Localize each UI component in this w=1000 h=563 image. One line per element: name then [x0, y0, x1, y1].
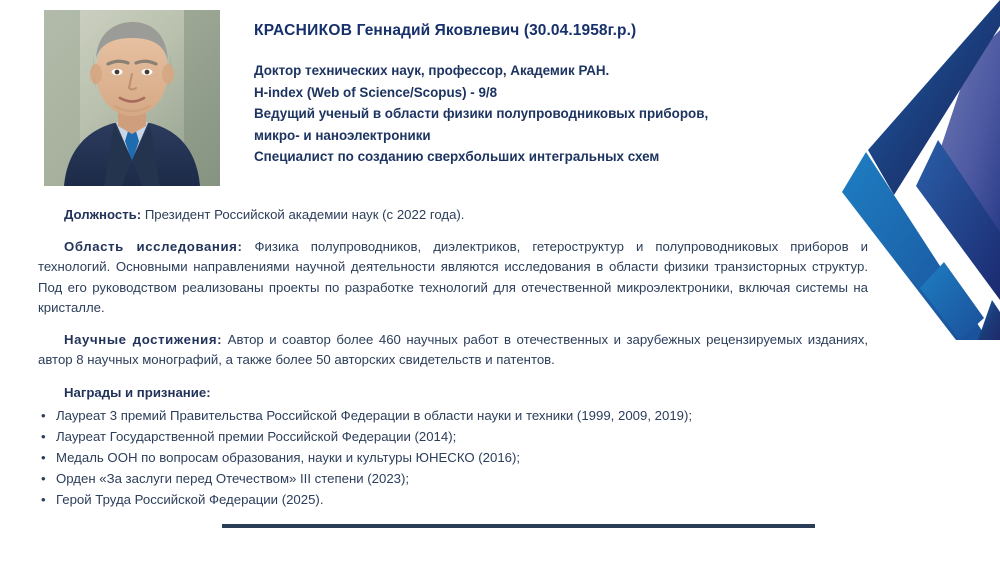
deco-shape-small-tile: [920, 262, 984, 340]
deco-shape-violet: [940, 30, 1000, 250]
person-given-name: Геннадий Яковлевич: [357, 22, 520, 39]
person-birthdate: (30.04.1958г.р.): [524, 22, 636, 39]
paragraph-position: Должность: Президент Российской академии…: [38, 205, 868, 226]
award-text: Лауреат 3 премий Правительства Российско…: [56, 408, 692, 423]
list-item: • Герой Труда Российской Федерации (2025…: [38, 489, 868, 510]
subtitle-line-field-1: Ведущий ученый в области физики полупров…: [254, 103, 854, 125]
subtitle-line-degree: Доктор технических наук, профессор, Акад…: [254, 60, 854, 82]
award-text: Орден «За заслуги перед Отечеством» III …: [56, 471, 409, 486]
person-name-line: КРАСНИКОВ Геннадий Яковлевич (30.04.1958…: [254, 22, 854, 40]
paragraph-research: Область исследования: Физика полупроводн…: [38, 237, 868, 319]
header-block: КРАСНИКОВ Геннадий Яковлевич (30.04.1958…: [254, 22, 854, 168]
bullet-icon: •: [41, 426, 46, 447]
list-item: • Орден «За заслуги перед Отечеством» II…: [38, 468, 868, 489]
achievements-label: Научные достижения:: [64, 332, 222, 347]
bullet-icon: •: [41, 468, 46, 489]
subtitle-line-specialist: Специалист по созданию сверхбольших инте…: [254, 146, 854, 168]
award-text: Герой Труда Российской Федерации (2025).: [56, 492, 324, 507]
header-subtitle: Доктор технических наук, профессор, Акад…: [254, 60, 854, 168]
deco-shape-mid-band: [916, 140, 1000, 300]
bottom-divider: [222, 524, 815, 528]
deco-shape-shard: [978, 300, 1000, 340]
bullet-icon: •: [41, 405, 46, 426]
bullet-icon: •: [41, 489, 46, 510]
list-item: • Лауреат Государственной премии Российс…: [38, 426, 868, 447]
subtitle-line-field-2: микро- и наноэлектроники: [254, 125, 854, 147]
position-text: Президент Российской академии наук (с 20…: [141, 207, 464, 222]
slide-root: КРАСНИКОВ Геннадий Яковлевич (30.04.1958…: [0, 0, 1000, 563]
research-label: Область исследования:: [64, 239, 242, 254]
person-surname: КРАСНИКОВ: [254, 22, 352, 39]
body-area: Должность: Президент Российской академии…: [38, 205, 868, 510]
bullet-icon: •: [41, 447, 46, 468]
paragraph-achievements: Научные достижения: Автор и соавтор боле…: [38, 330, 868, 371]
awards-title: Награды и признание:: [64, 383, 868, 403]
award-text: Медаль ООН по вопросам образования, наук…: [56, 450, 520, 465]
awards-list: • Лауреат 3 премий Правительства Российс…: [38, 405, 868, 510]
subtitle-line-hindex: H-index (Web of Science/Scopus) - 9/8: [254, 82, 854, 104]
position-label: Должность:: [64, 207, 141, 222]
list-item: • Медаль ООН по вопросам образования, на…: [38, 447, 868, 468]
list-item: • Лауреат 3 премий Правительства Российс…: [38, 405, 868, 426]
deco-shape-navy: [868, 0, 1000, 195]
award-text: Лауреат Государственной премии Российско…: [56, 429, 456, 444]
portrait-photo: [44, 10, 220, 186]
